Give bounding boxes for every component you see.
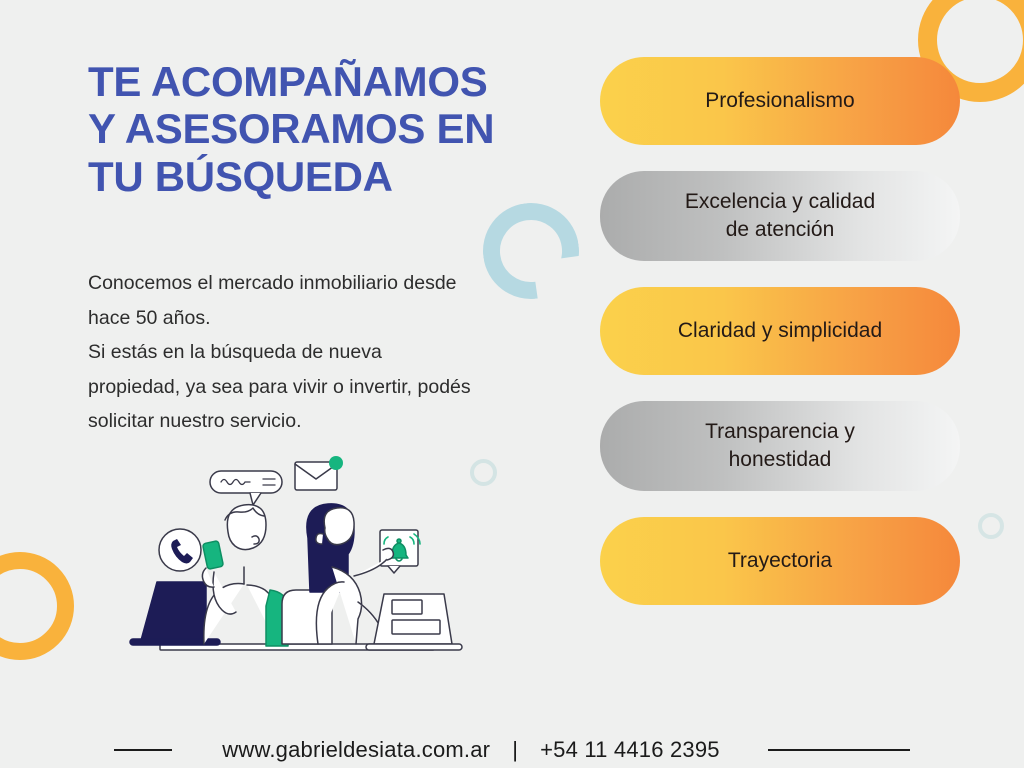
footer-separator: | — [490, 737, 540, 763]
orange-ring-bottom-left-icon — [0, 552, 74, 660]
footer-rule-left — [114, 749, 172, 751]
footer-website[interactable]: www.gabrieldesiata.com.ar — [222, 737, 490, 763]
page-title: TE ACOMPAÑAMOS Y ASESORAMOS EN TU BÚSQUE… — [88, 58, 588, 200]
value-pill-label: Profesionalismo — [705, 87, 854, 115]
footer-contact: www.gabrieldesiata.com.ar | +54 11 4416 … — [222, 737, 719, 763]
teal-ring-middle-icon — [470, 459, 497, 486]
value-pill-label: Claridad y simplicidad — [678, 317, 882, 345]
value-pill-trayectoria[interactable]: Trayectoria — [600, 517, 960, 605]
footer-rule-right — [768, 749, 910, 751]
poster-canvas: TE ACOMPAÑAMOS Y ASESORAMOS EN TU BÚSQUE… — [0, 0, 1024, 768]
value-pill-label: Trayectoria — [728, 547, 832, 575]
values-list: Profesionalismo Excelencia y calidad de … — [600, 57, 960, 631]
footer-phone[interactable]: +54 11 4416 2395 — [540, 737, 720, 763]
envelope-with-notification-dot-icon — [295, 456, 343, 490]
phone-call-icon — [159, 529, 201, 571]
second-laptop — [366, 594, 462, 650]
value-pill-claridad[interactable]: Claridad y simplicidad — [600, 287, 960, 375]
value-pill-label: Transparencia y honestidad — [705, 418, 855, 473]
value-pill-transparencia[interactable]: Transparencia y honestidad — [600, 401, 960, 491]
value-pill-profesionalismo[interactable]: Profesionalismo — [600, 57, 960, 145]
chat-bubble-icon — [210, 471, 282, 505]
two-people-at-desk-illustration — [122, 442, 472, 674]
body-paragraph: Conocemos el mercado inmobiliario desde … — [88, 266, 578, 439]
value-pill-excelencia[interactable]: Excelencia y calidad de atención — [600, 171, 960, 261]
value-pill-label: Excelencia y calidad de atención — [685, 188, 875, 243]
teal-ring-right-icon — [978, 513, 1004, 539]
footer: www.gabrieldesiata.com.ar | +54 11 4416 … — [0, 731, 1024, 768]
